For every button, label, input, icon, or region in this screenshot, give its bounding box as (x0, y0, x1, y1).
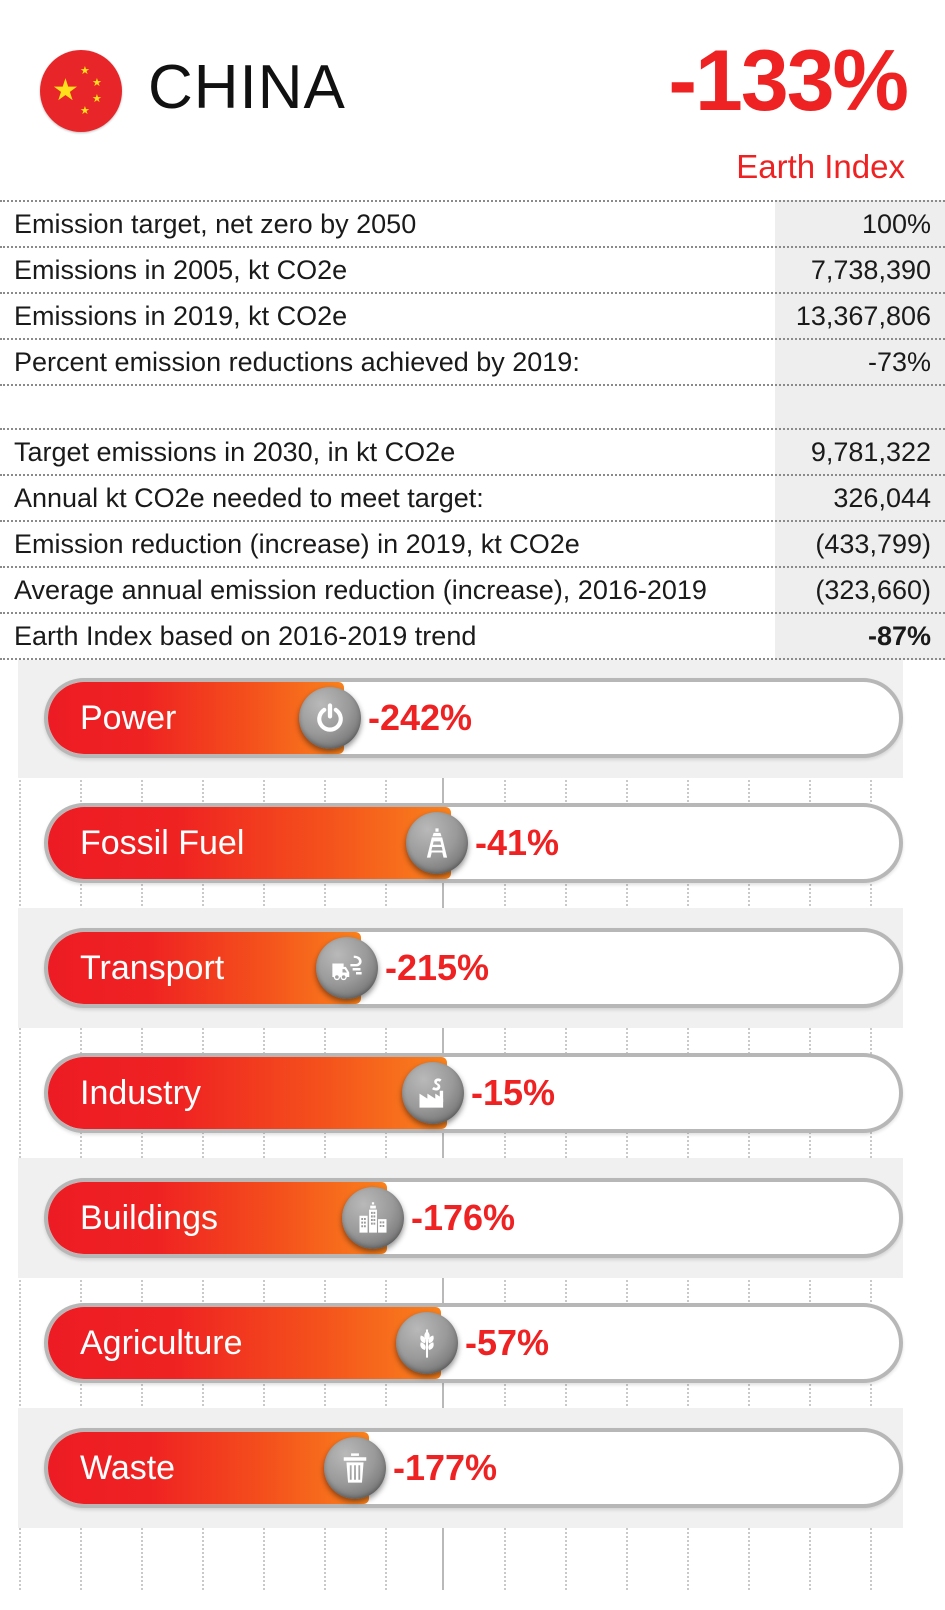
sector-bar-chart: Power-242%Fossil Fuel-41%Transport-215%I… (4, 660, 911, 1590)
bar-row[interactable]: Industry-15% (4, 1045, 911, 1141)
row-label: Emission reduction (increase) in 2019, k… (0, 529, 775, 560)
bar-row[interactable]: Agriculture-57% (4, 1295, 911, 1391)
row-value: 100% (775, 209, 945, 240)
oil-rig-icon[interactable] (406, 812, 468, 874)
industry-icon[interactable] (402, 1062, 464, 1124)
bar-value-label: -57% (465, 1322, 549, 1364)
bar-value-label: -177% (393, 1447, 497, 1489)
row-value: 9,781,322 (775, 437, 945, 468)
row-label: Annual kt CO2e needed to meet target: (0, 483, 775, 514)
transport-icon[interactable] (316, 937, 378, 999)
table-row: Emission reduction (increase) in 2019, k… (0, 522, 945, 568)
row-value: (323,660) (775, 575, 945, 606)
table-bottom: Target emissions in 2030, in kt CO2e 9,7… (0, 428, 945, 660)
bar-category-label: Agriculture (44, 1303, 243, 1383)
bar-row[interactable]: Transport-215% (4, 920, 911, 1016)
table-row: Emissions in 2005, kt CO2e 7,738,390 (0, 248, 945, 294)
bar-value-label: -215% (385, 947, 489, 989)
china-flag-icon: ★ ★ ★ ★ ★ (40, 50, 122, 132)
row-value: 7,738,390 (775, 255, 945, 286)
table-row: Average annual emission reduction (incre… (0, 568, 945, 614)
table-row: Percent emission reductions achieved by … (0, 340, 945, 386)
bar-category-label: Transport (44, 928, 224, 1008)
bar-category-label: Waste (44, 1428, 175, 1508)
bar-row[interactable]: Fossil Fuel-41% (4, 795, 911, 891)
earth-index-value: -133% (668, 38, 907, 124)
flag-small-star-1: ★ (80, 66, 90, 77)
bar-row[interactable]: Buildings-176% (4, 1170, 911, 1266)
row-value: 326,044 (775, 483, 945, 514)
flag-small-star-4: ★ (80, 106, 90, 117)
bar-value-label: -176% (411, 1197, 515, 1239)
agriculture-icon[interactable] (396, 1312, 458, 1374)
row-label: Emissions in 2019, kt CO2e (0, 301, 775, 332)
table-row: Emissions in 2019, kt CO2e 13,367,806 (0, 294, 945, 340)
row-label: Average annual emission reduction (incre… (0, 575, 775, 606)
row-value: -73% (775, 347, 945, 378)
table-row: Emission target, net zero by 2050 100% (0, 200, 945, 248)
row-label: Percent emission reductions achieved by … (0, 347, 775, 378)
buildings-icon[interactable] (342, 1187, 404, 1249)
bar-category-label: Buildings (44, 1178, 218, 1258)
row-label: Emissions in 2005, kt CO2e (0, 255, 775, 286)
table-row-earth-index: Earth Index based on 2016-2019 trend -87… (0, 614, 945, 660)
bar-category-label: Fossil Fuel (44, 803, 244, 883)
bar-category-label: Industry (44, 1053, 201, 1133)
stats-tables: Emission target, net zero by 2050 100% E… (0, 200, 945, 660)
bar-row[interactable]: Waste-177% (4, 1420, 911, 1516)
bar-row[interactable]: Power-242% (4, 670, 911, 766)
waste-icon[interactable] (324, 1437, 386, 1499)
header: ★ ★ ★ ★ ★ CHINA -133% Earth Index (0, 0, 945, 200)
row-label: Target emissions in 2030, in kt CO2e (0, 437, 775, 468)
row-value: (433,799) (775, 529, 945, 560)
bar-value-label: -41% (475, 822, 559, 864)
power-icon[interactable] (299, 687, 361, 749)
flag-small-star-2: ★ (92, 78, 102, 89)
row-label: Emission target, net zero by 2050 (0, 209, 775, 240)
page-title: CHINA (148, 52, 346, 123)
bar-value-label: -242% (368, 697, 472, 739)
bar-category-label: Power (44, 678, 176, 758)
row-value: 13,367,806 (775, 301, 945, 332)
row-value: -87% (775, 621, 945, 652)
row-label: Earth Index based on 2016-2019 trend (0, 621, 775, 652)
table-top: Emission target, net zero by 2050 100% E… (0, 200, 945, 386)
table-gap (0, 386, 945, 428)
earth-index-label: Earth Index (736, 148, 905, 186)
flag-small-star-3: ★ (92, 94, 102, 105)
bar-value-label: -15% (471, 1072, 555, 1114)
table-row: Target emissions in 2030, in kt CO2e 9,7… (0, 428, 945, 476)
flag-big-star: ★ (52, 76, 79, 106)
table-row: Annual kt CO2e needed to meet target: 32… (0, 476, 945, 522)
